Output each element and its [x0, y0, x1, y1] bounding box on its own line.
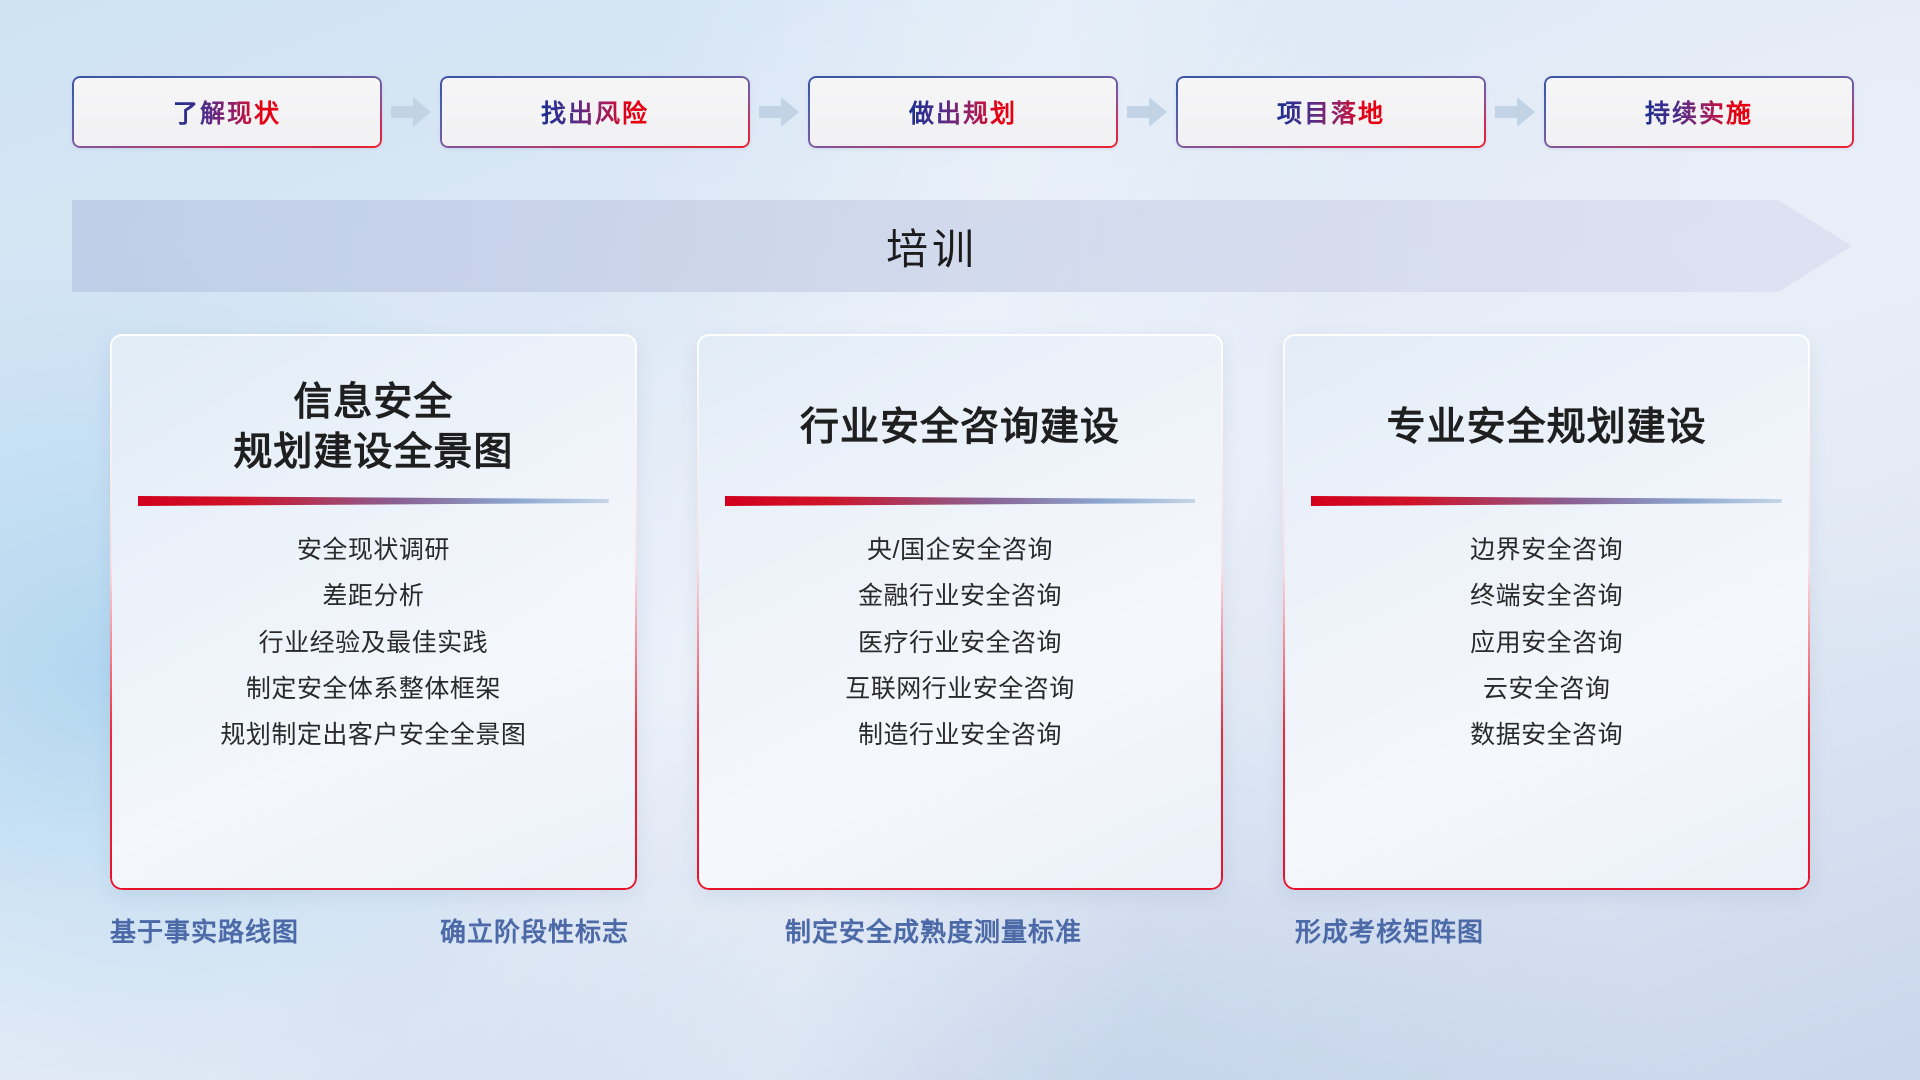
process-step-1-label: 了解现状: [173, 94, 281, 130]
card-3-divider: [1311, 492, 1782, 510]
list-item: 制定安全体系整体框架: [246, 671, 501, 707]
list-item: 终端安全咨询: [1470, 578, 1623, 614]
caption-matrix: 形成考核矩阵图: [1295, 912, 1484, 949]
list-item: 规划制定出客户安全全景图: [220, 717, 526, 753]
process-step-2-label: 找出风险: [541, 94, 649, 130]
list-item: 差距分析: [322, 578, 424, 614]
list-item: 行业经验及最佳实践: [259, 625, 489, 661]
card-1-title-line-1: 信息安全: [233, 378, 513, 428]
process-arrow-3: [1118, 76, 1176, 148]
list-item: 央/国企安全咨询: [867, 532, 1053, 568]
list-item: 金融行业安全咨询: [858, 578, 1062, 614]
card-information-security-blueprint[interactable]: 信息安全 规划建设全景图 安全现状调研 差距分析 行业经验及最佳实践 制定安全体…: [110, 334, 637, 890]
card-3-list: 边界安全咨询 终端安全咨询 应用安全咨询 云安全咨询 数据安全咨询: [1470, 532, 1623, 753]
process-step-2[interactable]: 找出风险: [440, 76, 750, 148]
card-2-title: 行业安全咨询建设: [800, 378, 1120, 478]
process-strip: 了解现状 找出风险 做出规划 项目落地 持续实施: [72, 76, 1852, 148]
process-step-3[interactable]: 做出规划: [808, 76, 1118, 148]
card-2-list: 央/国企安全咨询 金融行业安全咨询 医疗行业安全咨询 互联网行业安全咨询 制造行…: [845, 532, 1075, 753]
list-item: 互联网行业安全咨询: [845, 671, 1075, 707]
card-1-title: 信息安全 规划建设全景图: [233, 378, 513, 478]
training-banner: 培训: [72, 200, 1852, 292]
card-professional-security-planning[interactable]: 专业安全规划建设 边界安全咨询 终端安全咨询 应用安全咨询 云安全咨询 数据安全…: [1283, 334, 1810, 890]
list-item: 云安全咨询: [1483, 671, 1611, 707]
caption-maturity-model: 制定安全成熟度测量标准: [785, 912, 1082, 949]
list-item: 数据安全咨询: [1470, 717, 1623, 753]
card-3-title: 专业安全规划建设: [1387, 378, 1707, 478]
list-item: 应用安全咨询: [1470, 625, 1623, 661]
process-step-5-label: 持续实施: [1645, 94, 1753, 130]
card-1-divider: [138, 492, 609, 510]
card-2-divider: [725, 492, 1196, 510]
process-step-3-label: 做出规划: [909, 94, 1017, 130]
process-arrow-1: [382, 76, 440, 148]
process-step-1[interactable]: 了解现状: [72, 76, 382, 148]
banner-title: 培训: [72, 200, 1852, 292]
list-item: 安全现状调研: [297, 532, 450, 568]
list-item: 医疗行业安全咨询: [858, 625, 1062, 661]
process-step-4[interactable]: 项目落地: [1176, 76, 1486, 148]
card-row: 信息安全 规划建设全景图 安全现状调研 差距分析 行业经验及最佳实践 制定安全体…: [110, 334, 1810, 890]
process-step-4-label: 项目落地: [1277, 94, 1385, 130]
caption-roadmap: 基于事实路线图: [110, 912, 299, 949]
process-arrow-2: [750, 76, 808, 148]
card-industry-security-consulting[interactable]: 行业安全咨询建设 央/国企安全咨询 金融行业安全咨询 医疗行业安全咨询 互联网行…: [697, 334, 1224, 890]
process-step-5[interactable]: 持续实施: [1544, 76, 1854, 148]
card-1-list: 安全现状调研 差距分析 行业经验及最佳实践 制定安全体系整体框架 规划制定出客户…: [220, 532, 526, 753]
card-1-title-line-2: 规划建设全景图: [233, 428, 513, 478]
caption-row: 基于事实路线图 确立阶段性标志 制定安全成熟度测量标准 形成考核矩阵图: [110, 912, 1810, 968]
process-arrow-4: [1486, 76, 1544, 148]
list-item: 制造行业安全咨询: [858, 717, 1062, 753]
list-item: 边界安全咨询: [1470, 532, 1623, 568]
caption-milestones: 确立阶段性标志: [440, 912, 629, 949]
